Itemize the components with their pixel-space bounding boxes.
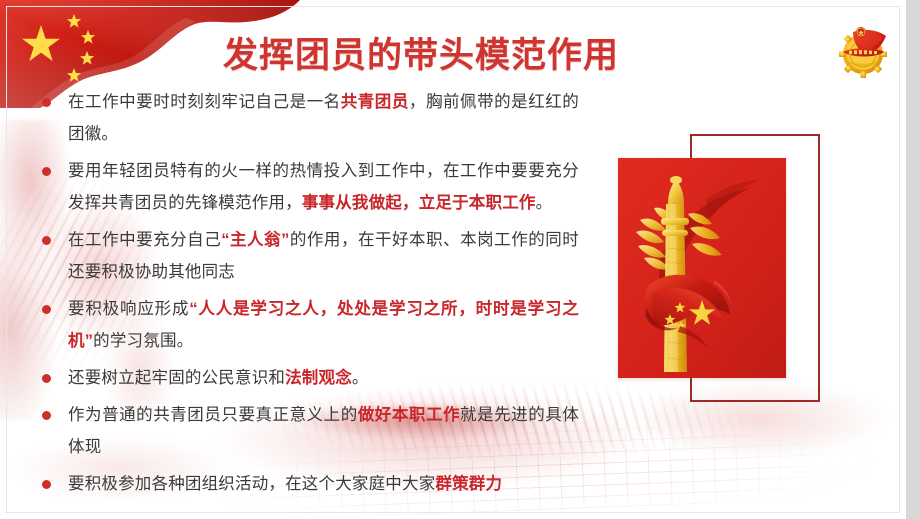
bullet-list: 在工作中要时时刻刻牢记自己是一名共青团员，胸前佩带的是红红的团徽。要用年轻团员特…	[34, 86, 579, 505]
highlighted-text: “主人翁”	[221, 231, 289, 249]
highlighted-text: 法制观念	[285, 369, 352, 387]
bullet-dot-icon	[42, 167, 51, 176]
bullet-dot-icon	[42, 236, 51, 245]
body-text: 还要树立起牢固的公民意识和	[68, 369, 285, 387]
page-title: 发挥团员的带头模范作用	[186, 34, 656, 78]
bullet-dot-icon	[42, 411, 51, 420]
highlighted-text: 共青团员	[341, 93, 409, 111]
list-item: 要用年轻团员特有的火一样的热情投入到工作中，在工作中要要充分发挥共青团员的先锋模…	[34, 155, 579, 219]
body-text: 要积极参加各种团组织活动，在这个大家庭中大家	[68, 475, 435, 493]
body-text: 在工作中要充分自己	[68, 231, 221, 249]
bullet-dot-icon	[42, 305, 51, 314]
bullet-dot-icon	[42, 98, 51, 107]
presentation-slide: 发挥团员的带头模范作用 在工作中要时时刻刻牢记自己是一名共青团员，胸前佩带的是红…	[0, 0, 906, 519]
highlighted-text: 群策群力	[435, 475, 502, 493]
body-text: 。	[352, 369, 369, 387]
list-item: 在工作中要充分自己“主人翁”的作用，在干好本职、本岗工作的同时还要积极协助其他同…	[34, 224, 579, 288]
body-text: 在工作中要时时刻刻牢记自己是一名	[68, 93, 341, 111]
body-text: 。	[536, 194, 553, 212]
list-item: 要积极响应形成“人人是学习之人，处处是学习之所，时时是学习之机”的学习氛围。	[34, 293, 579, 357]
list-item: 还要树立起牢固的公民意识和法制观念。	[34, 362, 579, 394]
bullet-dot-icon	[42, 374, 51, 383]
body-text: 的学习氛围。	[93, 332, 193, 350]
highlighted-text: 做好本职工作	[358, 406, 460, 424]
gold-column-torch-with-red-flag-and-stars-icon	[618, 158, 786, 378]
body-text: 作为普通的共青团员只要真正意义上的	[68, 406, 358, 424]
body-text: 要积极响应形成	[68, 300, 189, 318]
highlighted-text: 事事从我做起，立足于本职工作	[302, 194, 536, 212]
list-item: 在工作中要时时刻刻牢记自己是一名共青团员，胸前佩带的是红红的团徽。	[34, 86, 579, 150]
list-item: 作为普通的共青团员只要真正意义上的做好本职工作就是先进的具体体现	[34, 399, 579, 463]
communist-youth-league-emblem-icon	[836, 24, 892, 78]
bullet-dot-icon	[42, 480, 51, 489]
list-item: 要积极参加各种团组织活动，在这个大家庭中大家群策群力	[34, 468, 579, 500]
